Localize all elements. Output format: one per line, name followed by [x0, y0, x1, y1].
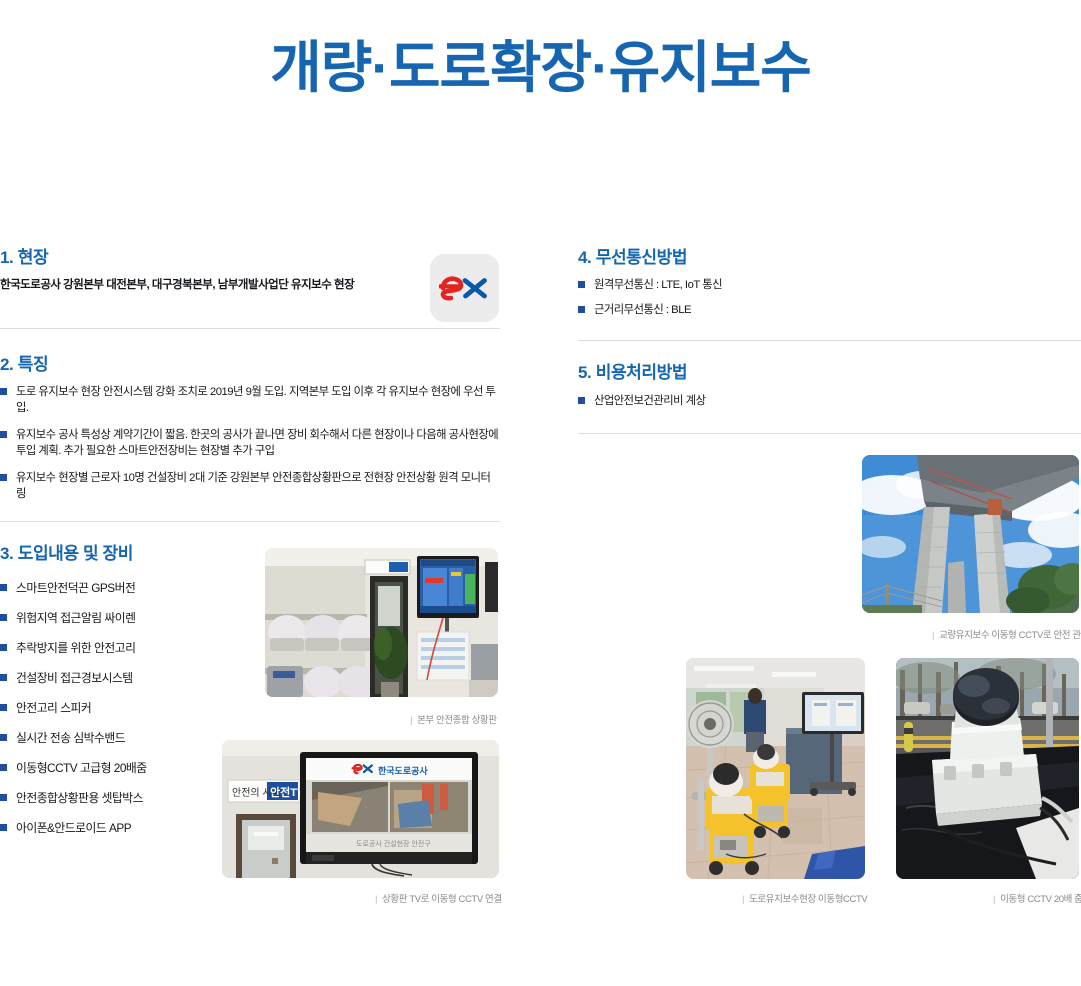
caption-text: 상황판 TV로 이동형 CCTV 연결 [382, 894, 502, 905]
section-2-bullet-list: 도로 유지보수 현장 안전시스템 강화 조치로 2019년 9월 도입. 지역본… [0, 384, 500, 502]
list-item: 산업안전보건관리비 계상 [578, 393, 1081, 409]
ex-logo-icon [439, 275, 491, 301]
ex-corporate-logo [430, 254, 499, 322]
list-item: 도로 유지보수 현장 안전시스템 강화 조치로 2019년 9월 도입. 지역본… [0, 384, 500, 417]
divider-after-section-2 [0, 521, 500, 522]
photo-control-room-caption: |본부 안전종합 상황판 [410, 712, 497, 726]
right-column: 4. 무선통신방법 원격무선통신 : LTE, IoT 통신 근거리무선통신 :… [578, 248, 1081, 434]
photo-bridge [862, 455, 1079, 613]
section-4-musontongsin: 4. 무선통신방법 원격무선통신 : LTE, IoT 통신 근거리무선통신 :… [578, 248, 1081, 318]
divider-after-section-1 [0, 328, 500, 329]
photo-safety-tv-caption: |상황판 TV로 이동형 CCTV 연결 [375, 891, 502, 905]
photo-bridge-image [862, 455, 1079, 613]
section-1-heading: 1. 현장 [0, 248, 500, 268]
section-5-bullet-list: 산업안전보건관리비 계상 [578, 393, 1081, 409]
section-1-hyeonjang: 1. 현장 한국도로공사 강원본부 대전본부, 대구경북본부, 남부개발사업단 … [0, 248, 500, 295]
svg-text:한국도로공사: 한국도로공사 [378, 765, 428, 776]
section-2-heading: 2. 특징 [0, 355, 500, 375]
caption-text: 이동형 CCTV 20배 줌 [1000, 894, 1081, 905]
section-5-biyongcheori: 5. 비용처리방법 산업안전보건관리비 계상 [578, 363, 1081, 409]
photo-safety-tv-image: 안전의 시작 안전TV 한국도로공사 도로공사 건설현장 안전구 [222, 740, 499, 878]
caption-tick: | [410, 715, 412, 726]
photo-control-room [265, 548, 498, 697]
caption-tick: | [932, 630, 934, 641]
section-1-subtitle: 한국도로공사 강원본부 대전본부, 대구경북본부, 남부개발사업단 유지보수 현… [0, 277, 500, 294]
section-2-teukjing: 2. 특징 도로 유지보수 현장 안전시스템 강화 조치로 2019년 9월 도… [0, 355, 500, 503]
caption-text: 본부 안전종합 상황판 [417, 715, 497, 726]
photo-control-room-image [265, 548, 498, 697]
photo-mobile-cctv-cart-caption: |도로유지보수현장 이동형CCTV [742, 891, 867, 905]
caption-tick: | [375, 894, 377, 905]
caption-text: 도로유지보수현장 이동형CCTV [749, 894, 867, 905]
photo-mobile-cctv-cart [686, 658, 865, 879]
photo-cctv-zoom [896, 658, 1079, 879]
caption-tick: | [742, 894, 744, 905]
photo-bridge-caption: |교량유지보수 이동형 CCTV로 안전 관리 [932, 627, 1081, 641]
svg-text:도로공사 건설현장 안전구: 도로공사 건설현장 안전구 [356, 839, 431, 848]
photo-cctv-zoom-image [896, 658, 1079, 879]
list-item: 유지보수 현장별 근로자 10명 건설장비 2대 기준 강원본부 안전종합상황판… [0, 470, 500, 503]
photo-mobile-cctv-cart-image [686, 658, 865, 879]
list-item: 원격무선통신 : LTE, IoT 통신 [578, 277, 1081, 293]
photo-safety-tv: 안전의 시작 안전TV 한국도로공사 도로공사 건설현장 안전구 [222, 740, 499, 878]
section-4-bullet-list: 원격무선통신 : LTE, IoT 통신 근거리무선통신 : BLE [578, 277, 1081, 318]
page-title: 개량·도로확장·유지보수 [0, 36, 1081, 100]
svg-text:안전TV: 안전TV [270, 785, 305, 799]
caption-tick: | [993, 894, 995, 905]
list-item: 유지보수 공사 특성상 계약기간이 짧음. 한곳의 공사가 끝나면 장비 회수해… [0, 427, 500, 460]
section-4-heading: 4. 무선통신방법 [578, 248, 1081, 268]
divider-after-section-5 [578, 433, 1081, 434]
divider-after-section-4 [578, 340, 1081, 341]
caption-text: 교량유지보수 이동형 CCTV로 안전 관리 [939, 630, 1081, 641]
list-item: 근거리무선통신 : BLE [578, 302, 1081, 318]
section-5-heading: 5. 비용처리방법 [578, 363, 1081, 383]
photo-cctv-zoom-caption: |이동형 CCTV 20배 줌 [993, 891, 1081, 905]
